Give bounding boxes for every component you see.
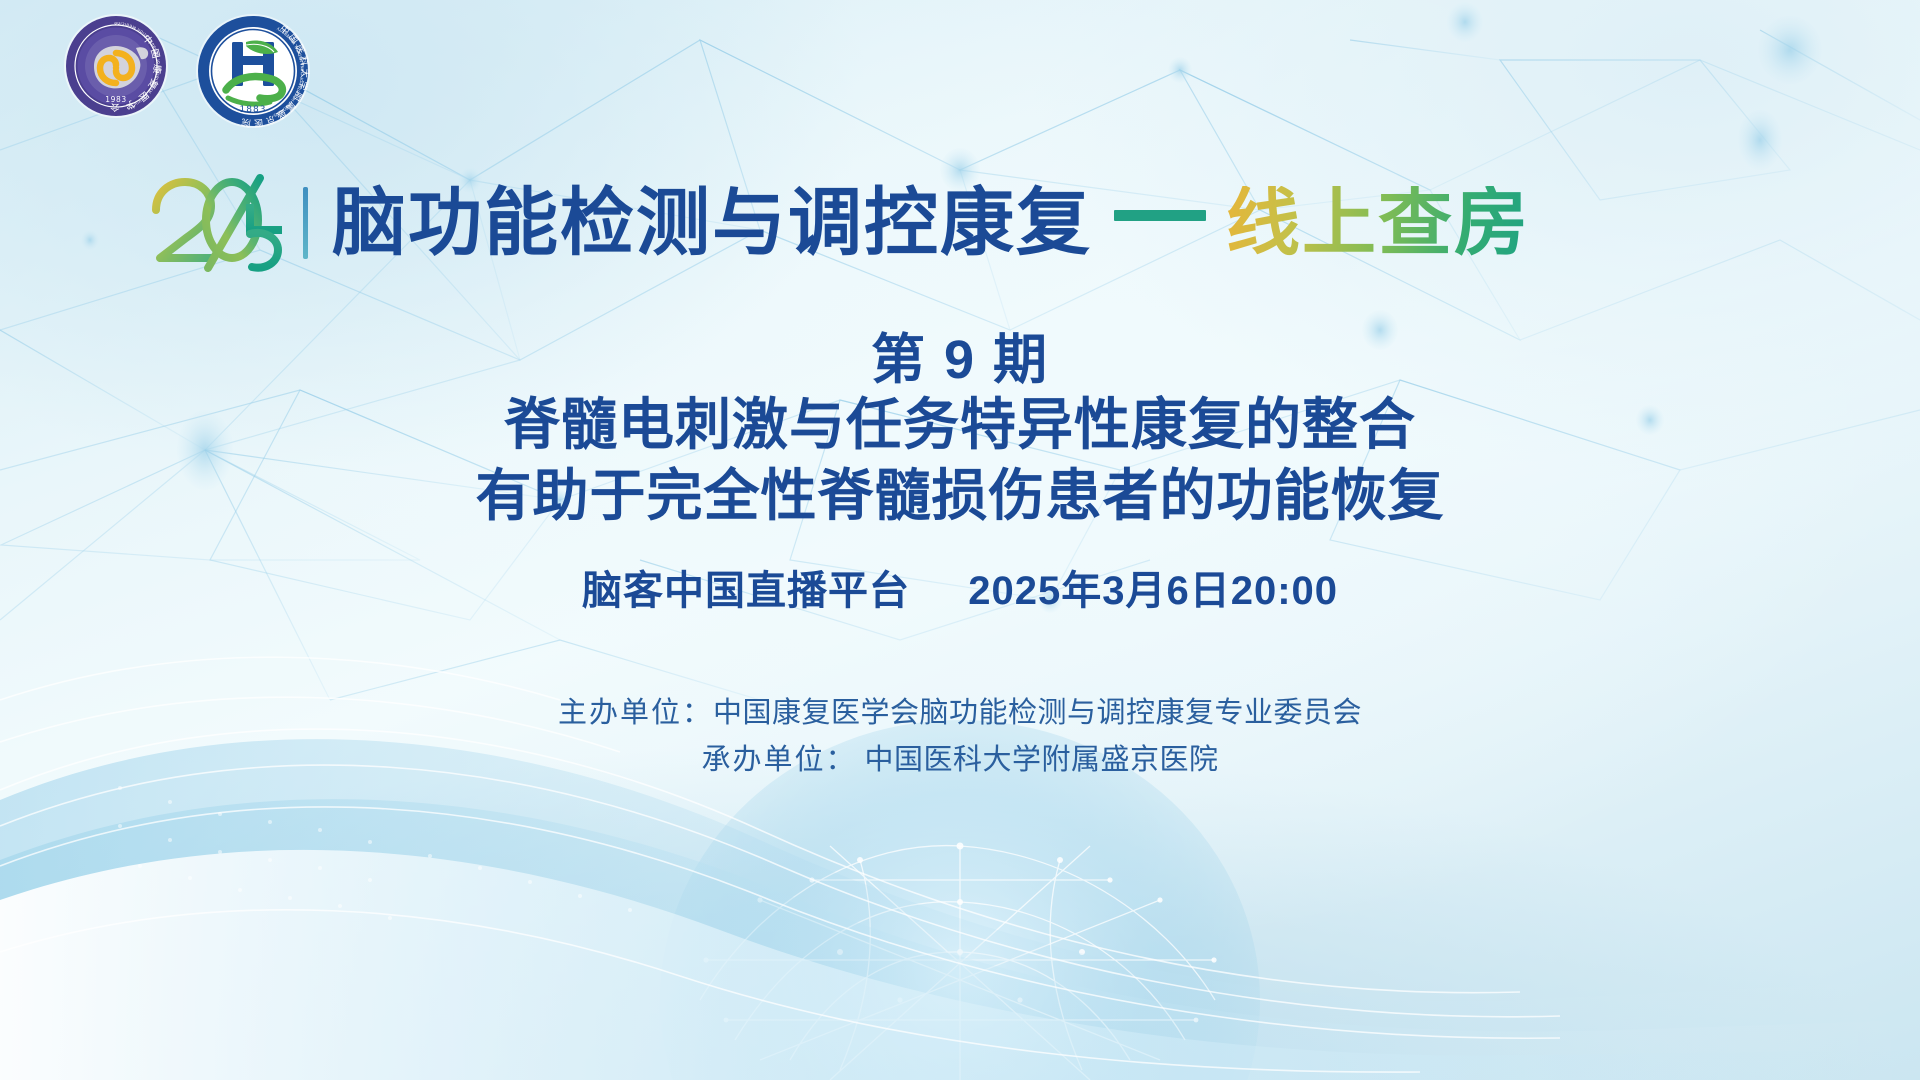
year-2025-logo: [150, 168, 285, 278]
event-poster: 中国康复医学会 Chinese Association of Rehabilit…: [0, 0, 1920, 1080]
organizer-label: 主办单位：: [558, 697, 713, 729]
logo-group: 中国康复医学会 Chinese Association of Rehabilit…: [62, 12, 312, 135]
svg-text:1983: 1983: [105, 95, 127, 104]
platform-datetime-line: 脑客中国直播平台 2025年3月6日20:00: [0, 558, 1920, 616]
logo-shengjing-hospital: 中国医科大学附属盛京医院 SHENGJING HOSPITAL OF CHINA…: [194, 12, 312, 135]
platform-name: 脑客中国直播平台: [582, 569, 910, 613]
title-accent: 线上查房: [1226, 186, 1530, 260]
organizer-line: 主办单位：中国康复医学会脑功能检测与调控康复专业委员会: [0, 690, 1920, 737]
logo-china-association-rehabilitation-medicine: 中国康复医学会 Chinese Association of Rehabilit…: [62, 12, 170, 125]
headline-row: 脑功能检测与调控康复 线上查房: [0, 168, 1920, 278]
title-main: 脑功能检测与调控康复: [332, 186, 1092, 260]
center-block: 第 9 期 脊髓电刺激与任务特异性康复的整合 有助于完全性脊髓损伤患者的功能恢复…: [0, 330, 1920, 616]
host-label: 承办单位：: [701, 744, 856, 776]
shengjing-logo-icon: 中国医科大学附属盛京医院 SHENGJING HOSPITAL OF CHINA…: [194, 12, 312, 130]
organizer-value: 中国康复医学会脑功能检测与调控康复专业委员会: [713, 697, 1362, 729]
event-datetime: 2025年3月6日20:00: [968, 569, 1338, 613]
host-line: 承办单位：中国医科大学附属盛京医院: [0, 737, 1920, 784]
subtitle-line-2: 有助于完全性脊髓损伤患者的功能恢复: [0, 461, 1920, 532]
issue-number: 第 9 期: [0, 330, 1920, 390]
svg-text:1883: 1883: [240, 105, 267, 115]
carm-logo-icon: 中国康复医学会 Chinese Association of Rehabilit…: [62, 12, 170, 120]
host-value: 中国医科大学附属盛京医院: [865, 744, 1219, 776]
title-divider: [303, 187, 308, 259]
title-dash: [1114, 210, 1206, 221]
subtitle-line-1: 脊髓电刺激与任务特异性康复的整合: [0, 390, 1920, 461]
organizer-block: 主办单位：中国康复医学会脑功能检测与调控康复专业委员会 承办单位：中国医科大学附…: [0, 690, 1920, 784]
